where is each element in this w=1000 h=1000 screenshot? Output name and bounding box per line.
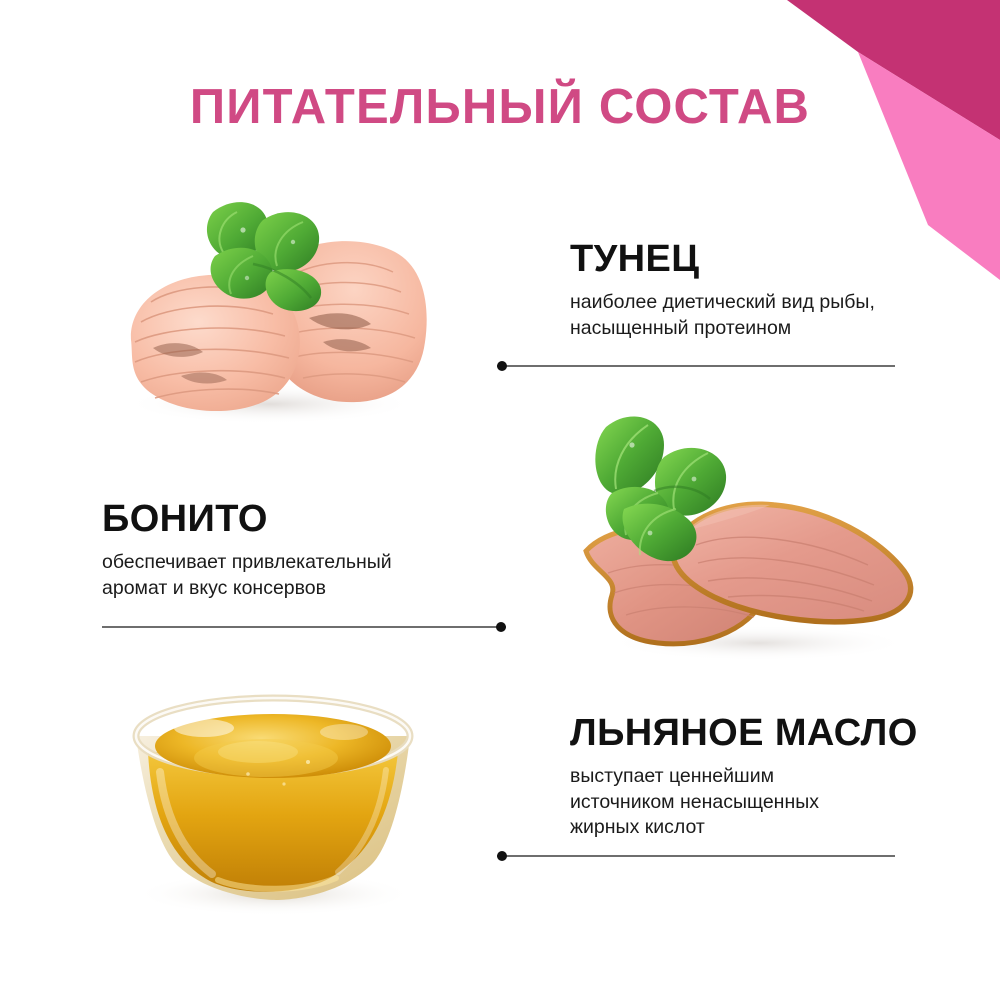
divider-dot: [496, 622, 506, 632]
page-title: ПИТАТЕЛЬНЫЙ СОСТАВ: [0, 82, 1000, 133]
divider-line: [102, 626, 506, 628]
divider-dot: [497, 851, 507, 861]
item-description-flaxseed-oil: выступает ценнейшим источником ненасыщен…: [570, 764, 960, 841]
divider-dot: [497, 361, 507, 371]
item-desc-line: обеспечивает привлекательный: [102, 550, 502, 576]
corner-decoration: [740, 0, 1000, 280]
tuna-photo: [95, 190, 435, 425]
item-desc-line: источником ненасыщенных: [570, 790, 960, 816]
item-desc-line: жирных кислот: [570, 815, 960, 841]
divider-line: [497, 855, 895, 857]
item-heading-bonito: БОНИТО: [102, 500, 502, 538]
item-desc-line: выступает ценнейшим: [570, 764, 960, 790]
item-block-flaxseed-oil: ЛЬНЯНОЕ МАСЛО выступает ценнейшим источн…: [570, 714, 960, 841]
item-desc-line: насыщенный протеином: [570, 316, 940, 342]
divider-bonito: [102, 621, 506, 633]
divider-line: [497, 365, 895, 367]
bonito-photo: [568, 405, 930, 667]
item-block-tuna: ТУНЕЦ наиболее диетический вид рыбы, нас…: [570, 240, 940, 341]
item-heading-flaxseed-oil: ЛЬНЯНОЕ МАСЛО: [570, 714, 960, 752]
nutritional-composition-poster: ПИТАТЕЛЬНЫЙ СОСТАВ: [0, 0, 1000, 1000]
item-description-tuna: наиболее диетический вид рыбы, насыщенны…: [570, 290, 940, 341]
item-desc-line: аромат и вкус консервов: [102, 576, 502, 602]
item-desc-line: наиболее диетический вид рыбы,: [570, 290, 940, 316]
flaxseed-oil-photo: [108, 688, 433, 920]
item-description-bonito: обеспечивает привлекательный аромат и вк…: [102, 550, 502, 601]
item-heading-tuna: ТУНЕЦ: [570, 240, 940, 278]
divider-tuna: [497, 360, 895, 372]
divider-flaxseed-oil: [497, 850, 895, 862]
item-block-bonito: БОНИТО обеспечивает привлекательный аром…: [102, 500, 502, 601]
